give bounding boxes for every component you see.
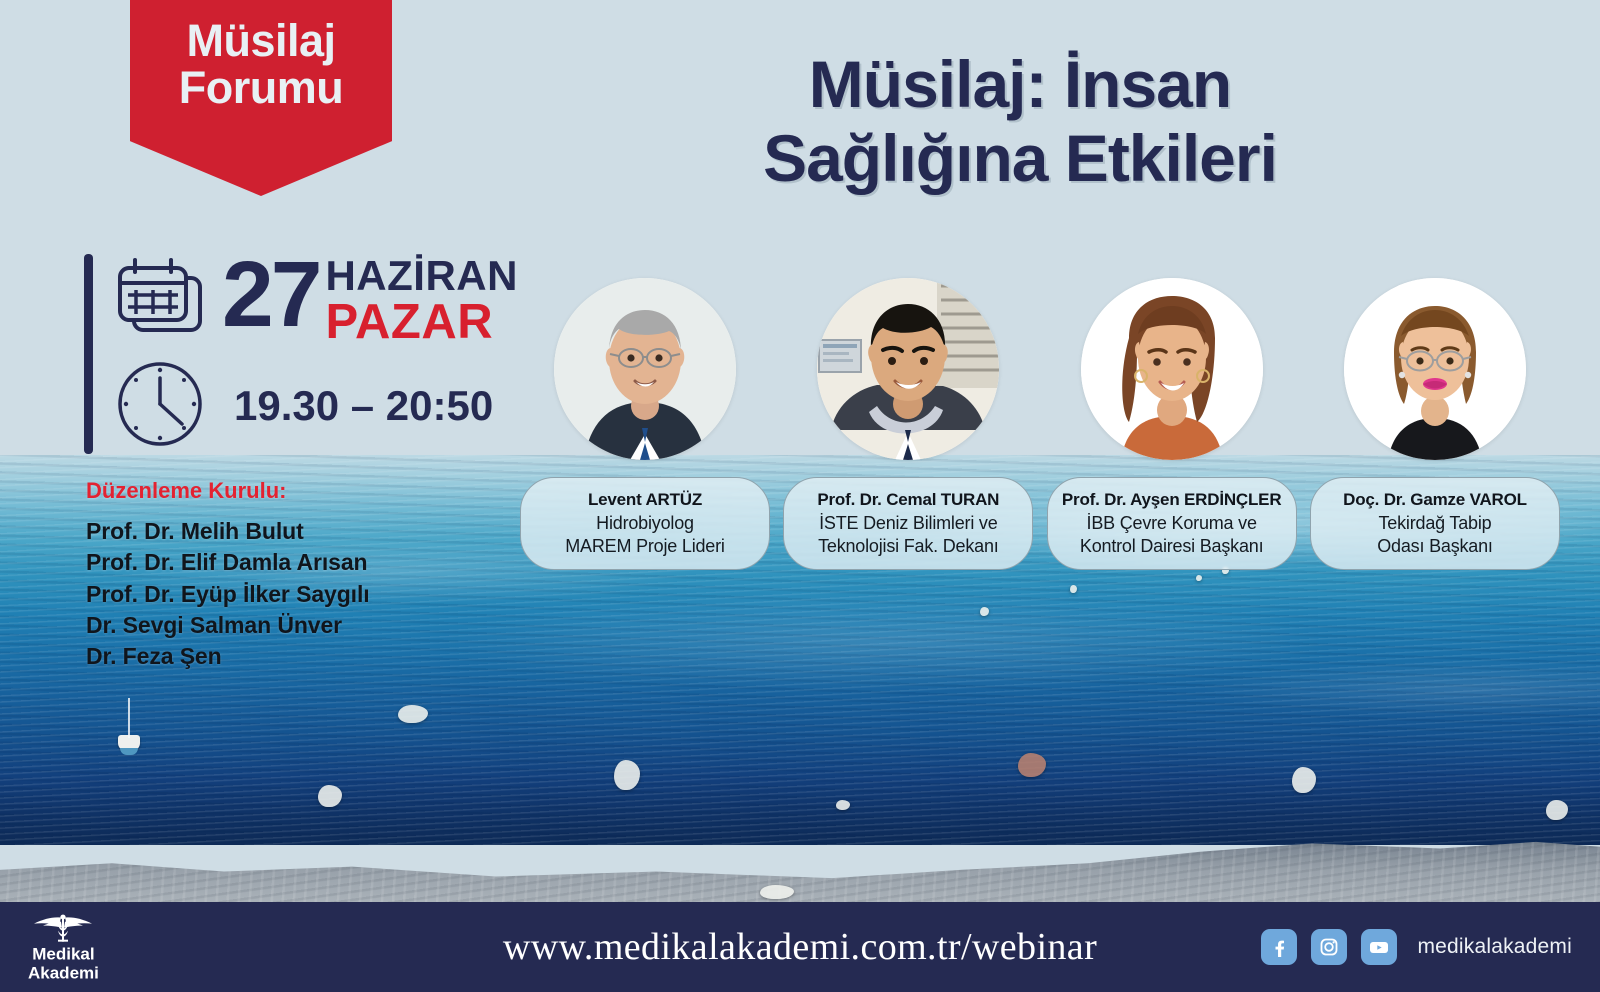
committee-member: Dr. Feza Şen [86,641,506,672]
poster-title: Müsilaj: İnsan Sağlığına Etkileri [560,48,1480,196]
boat-mast [128,698,130,738]
speaker-item: Prof. Dr. Cemal TURAN İSTE Deniz Bilimle… [783,278,1033,578]
speaker-name: Levent ARTÜZ [529,489,761,510]
event-day: 27 [222,252,319,338]
speaker-role-line-2: MAREM Proje Lideri [529,535,761,557]
portrait-gamze-varol [1344,278,1526,460]
speaker-name: Prof. Dr. Ayşen ERDİNÇLER [1056,489,1288,510]
speaker-card: Prof. Dr. Cemal TURAN İSTE Deniz Bilimle… [783,477,1033,570]
speaker-card: Doç. Dr. Gamze VAROL Tekirdağ Tabip Odas… [1310,477,1560,570]
event-banner: Müsilaj Forumu [130,0,392,196]
committee-member: Prof. Dr. Eyüp İlker Saygılı [86,579,506,610]
speaker-card: Levent ARTÜZ Hidrobiyolog MAREM Proje Li… [520,477,770,570]
instagram-icon[interactable] [1311,929,1347,965]
speaker-role-line-1: İBB Çevre Koruma ve [1056,512,1288,534]
date-text: 27 HAZİRAN PAZAR [222,252,518,346]
speaker-role-line-1: Tekirdağ Tabip [1319,512,1551,534]
speaker-role-line-2: Teknolojisi Fak. Dekanı [792,535,1024,557]
speaker-name: Prof. Dr. Cemal TURAN [792,489,1024,510]
portrait-cemal-turan [817,278,999,460]
event-weekday: PAZAR [325,298,517,346]
calendar-icon [114,256,206,342]
speaker-role-line-1: Hidrobiyolog [529,512,761,534]
avatar [1081,278,1263,460]
banner-line-2: Forumu [179,65,343,112]
avatar [817,278,999,460]
committee-member: Prof. Dr. Melih Bulut [86,516,506,547]
sailboat [118,735,140,751]
speaker-name: Doç. Dr. Gamze VAROL [1319,489,1551,510]
speaker-card: Prof. Dr. Ayşen ERDİNÇLER İBB Çevre Koru… [1047,477,1297,570]
title-line-1: Müsilaj: İnsan [560,48,1480,122]
committee-heading: Düzenleme Kurulu: [86,478,506,504]
banner-line-1: Müsilaj [186,18,335,65]
organizing-committee: Düzenleme Kurulu: Prof. Dr. Melih Bulut … [86,478,506,672]
title-line-2: Sağlığına Etkileri [560,122,1480,196]
event-datetime: 27 HAZİRAN PAZAR 19.30 – 20:50 [84,248,504,460]
facebook-icon[interactable] [1261,929,1297,965]
portrait-aysen-erdincler [1081,278,1263,460]
event-time: 19.30 – 20:50 [234,382,493,430]
committee-member: Dr. Sevgi Salman Ünver [86,610,506,641]
committee-member: Prof. Dr. Elif Damla Arısan [86,547,506,578]
speakers-row: Levent ARTÜZ Hidrobiyolog MAREM Proje Li… [520,278,1560,578]
social-links: medikalakademi [1261,929,1572,965]
speaker-role-line-1: İSTE Deniz Bilimleri ve [792,512,1024,534]
vertical-accent-bar [84,254,93,454]
footer-bar: Medikal Akademi www.medikalakademi.com.t… [0,902,1600,992]
webinar-poster: Müsilaj Forumu Müsilaj: İnsan Sağlığına … [0,0,1600,992]
speaker-item: Levent ARTÜZ Hidrobiyolog MAREM Proje Li… [520,278,770,578]
portrait-levent-artuz [554,278,736,460]
speaker-role-line-2: Odası Başkanı [1319,535,1551,557]
avatar [554,278,736,460]
youtube-icon[interactable] [1361,929,1397,965]
speaker-item: Prof. Dr. Ayşen ERDİNÇLER İBB Çevre Koru… [1047,278,1297,578]
speaker-item: Doç. Dr. Gamze VAROL Tekirdağ Tabip Odas… [1310,278,1560,578]
social-handle[interactable]: medikalakademi [1417,935,1572,959]
avatar [1344,278,1526,460]
speaker-role-line-2: Kontrol Dairesi Başkanı [1056,535,1288,557]
clock-icon [114,358,206,450]
event-month: HAZİRAN [325,256,517,296]
